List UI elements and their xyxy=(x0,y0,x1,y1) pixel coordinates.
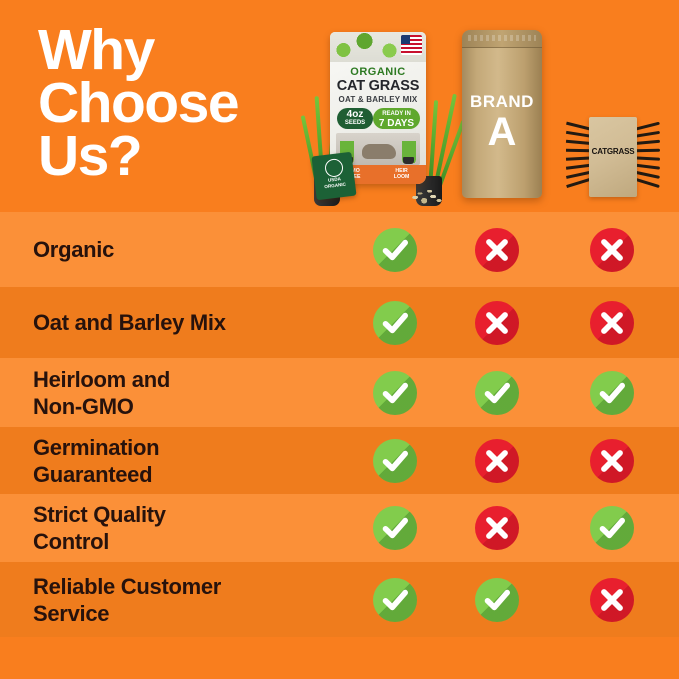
check-icon xyxy=(373,506,417,550)
competitor-b-packet-label: CATGRASS xyxy=(589,147,637,156)
package-subtitle-mix: OAT & BARLEY MIX xyxy=(330,95,426,104)
feature-label: Organic xyxy=(0,236,345,263)
mark-cells xyxy=(345,358,679,427)
cross-icon xyxy=(475,506,519,550)
table-row: Organic xyxy=(0,212,679,287)
spilled-seeds-icon xyxy=(408,182,444,204)
cross-icon xyxy=(475,301,519,345)
mark-cells xyxy=(345,494,679,562)
cross-icon xyxy=(475,439,519,483)
feature-label: Oat and Barley Mix xyxy=(0,309,345,336)
package-ready-label: READY IN xyxy=(373,108,420,118)
mark-cells xyxy=(345,212,679,287)
check-icon xyxy=(373,301,417,345)
product-competitor-a-image: BRAND A xyxy=(462,30,542,198)
pouch-seal-icon xyxy=(462,30,542,48)
check-icon xyxy=(475,578,519,622)
cross-icon xyxy=(475,228,519,272)
usda-organic-label: USDA ORGANIC xyxy=(314,175,355,192)
package-weight-unit: SEEDS xyxy=(337,120,373,127)
competitor-a-brand-word: BRAND xyxy=(462,92,542,112)
table-row: Reliable Customer Service xyxy=(0,562,679,637)
comparison-poster: Why Choose Us? xyxy=(0,0,679,679)
cross-icon xyxy=(590,301,634,345)
package-ready-badge: READY IN 7 DAYS xyxy=(373,108,420,129)
competitor-b-packet: CATGRASS xyxy=(589,117,637,197)
table-row: Heirloom and Non-GMO xyxy=(0,358,679,427)
heirloom-badge: HEIR LOOM xyxy=(394,169,410,180)
package-title-catgrass: CAT GRASS xyxy=(330,78,426,94)
check-icon xyxy=(373,578,417,622)
check-icon xyxy=(475,371,519,415)
poster-footer xyxy=(0,645,679,679)
feature-label: Heirloom and Non-GMO xyxy=(0,366,345,420)
mark-cells xyxy=(345,287,679,358)
cross-icon xyxy=(590,578,634,622)
package-weight-badge: 4oz SEEDS xyxy=(337,108,373,129)
cross-icon xyxy=(590,439,634,483)
check-icon xyxy=(373,439,417,483)
usa-flag-icon xyxy=(401,35,422,55)
table-row: Oat and Barley Mix xyxy=(0,287,679,358)
table-row: Germination Guaranteed xyxy=(0,427,679,494)
usda-organic-hangtag: USDA ORGANIC xyxy=(311,152,356,201)
page-title: Why Choose Us? xyxy=(38,24,338,183)
mark-cells xyxy=(345,427,679,494)
product-competitor-b-image: CATGRASS xyxy=(566,117,660,201)
cross-icon xyxy=(590,228,634,272)
check-icon xyxy=(373,228,417,272)
check-icon xyxy=(590,371,634,415)
feature-label: Reliable Customer Service xyxy=(0,573,345,627)
package-ready-days: 7 DAYS xyxy=(373,118,420,129)
mark-cells xyxy=(345,562,679,637)
feature-label: Strict Quality Control xyxy=(0,501,345,555)
check-icon xyxy=(590,506,634,550)
package-weight-value: 4oz xyxy=(337,108,373,120)
table-row: Strict Quality Control xyxy=(0,494,679,562)
comparison-table: OrganicOat and Barley MixHeirloom and No… xyxy=(0,212,679,637)
competitor-a-brand-letter: A xyxy=(462,112,542,152)
usda-seal-icon xyxy=(324,158,344,178)
feature-label: Germination Guaranteed xyxy=(0,434,345,488)
cat-illustration-icon xyxy=(362,144,396,159)
poster-header: Why Choose Us? xyxy=(0,0,679,212)
package-title-organic: ORGANIC xyxy=(330,66,426,78)
check-icon xyxy=(373,371,417,415)
product-own-image: ORGANIC CAT GRASS OAT & BARLEY MIX 4oz S… xyxy=(312,18,444,210)
